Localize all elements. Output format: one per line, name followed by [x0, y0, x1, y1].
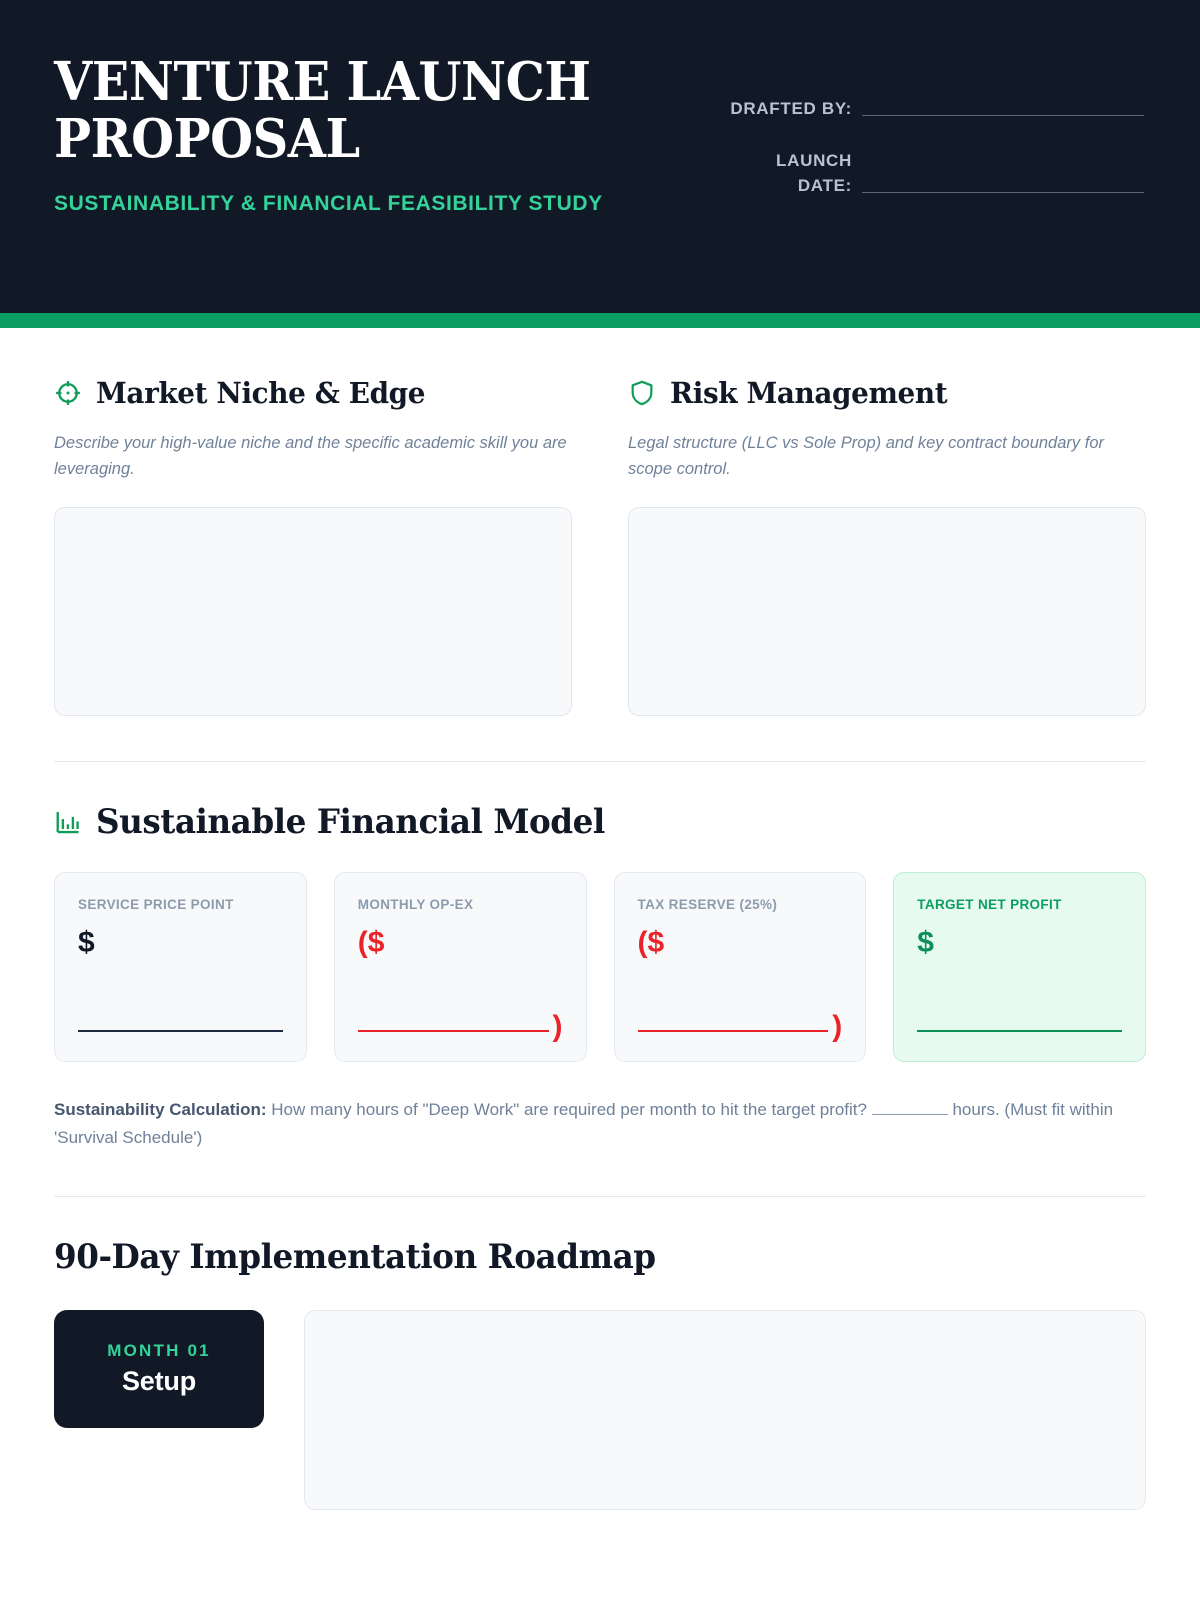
- metric-label: SERVICE PRICE POINT: [78, 896, 283, 914]
- metric-card-target-net-profit: TARGET NET PROFIT $: [893, 872, 1146, 1062]
- document-body: Market Niche & Edge Describe your high-v…: [0, 328, 1200, 1510]
- metric-card-monthly-opex: MONTHLY OP-EX ($ ): [334, 872, 587, 1062]
- metric-currency-symbol: $: [368, 926, 385, 959]
- metric-fill-row: ): [358, 1014, 563, 1040]
- accent-divider-bar: [0, 313, 1200, 328]
- drafted-by-input[interactable]: [862, 115, 1144, 116]
- metric-value-input[interactable]: [638, 1030, 829, 1032]
- metric-label: TARGET NET PROFIT: [917, 896, 1122, 914]
- financial-model-heading: Sustainable Financial Model: [54, 802, 1146, 842]
- drafted-by-row: DRAFTED BY:: [724, 96, 1144, 122]
- roadmap-notes-input[interactable]: [304, 1310, 1146, 1510]
- metric-close-paren: ): [832, 1014, 842, 1040]
- launch-date-row: LAUNCH DATE:: [724, 148, 1144, 199]
- header-meta-group: DRAFTED BY: LAUNCH DATE:: [724, 54, 1144, 313]
- launch-date-label: LAUNCH DATE:: [724, 148, 852, 199]
- shield-icon: [628, 379, 656, 407]
- metric-currency-symbol: $: [648, 926, 665, 959]
- metric-currency-symbol: $: [917, 926, 934, 959]
- metric-value-input[interactable]: [917, 1030, 1122, 1032]
- metric-fill-row: ): [638, 1014, 843, 1040]
- risk-management-section: Risk Management Legal structure (LLC vs …: [628, 376, 1146, 716]
- roadmap-month-kicker: MONTH 01: [107, 1341, 211, 1361]
- metric-open-paren: (: [638, 926, 648, 959]
- bar-chart-icon: [54, 808, 82, 836]
- roadmap-month-chip: MONTH 01 Setup: [54, 1310, 264, 1428]
- metric-amount: ($: [358, 928, 563, 958]
- metric-currency-symbol: $: [78, 926, 95, 959]
- header-title-group: VENTURE LAUNCH PROPOSAL SUSTAINABILITY &…: [54, 54, 674, 313]
- roadmap-title: 90-Day Implementation Roadmap: [54, 1237, 1102, 1277]
- proposal-page: VENTURE LAUNCH PROPOSAL SUSTAINABILITY &…: [0, 0, 1200, 1600]
- document-header: VENTURE LAUNCH PROPOSAL SUSTAINABILITY &…: [0, 0, 1200, 313]
- metric-amount: ($: [638, 928, 843, 958]
- page-title: VENTURE LAUNCH PROPOSAL: [54, 54, 631, 167]
- page-subtitle: SUSTAINABILITY & FINANCIAL FEASIBILITY S…: [54, 188, 654, 220]
- metric-fill-row: [917, 1030, 1122, 1039]
- roadmap-month-name: Setup: [122, 1366, 196, 1397]
- roadmap-row: MONTH 01 Setup: [54, 1310, 1146, 1510]
- calc-hours-input[interactable]: [872, 1100, 948, 1115]
- metric-fill-row: [78, 1030, 283, 1039]
- metric-card-tax-reserve: TAX RESERVE (25%) ($ ): [614, 872, 867, 1062]
- top-sections-row: Market Niche & Edge Describe your high-v…: [54, 328, 1146, 716]
- metric-card-grid: SERVICE PRICE POINT $ MONTHLY OP-EX ($: [54, 872, 1146, 1062]
- launch-date-input[interactable]: [862, 192, 1144, 193]
- metric-amount: $: [78, 928, 283, 958]
- market-niche-description: Describe your high-value niche and the s…: [54, 431, 572, 482]
- roadmap-section: 90-Day Implementation Roadmap MONTH 01 S…: [54, 1197, 1146, 1510]
- crosshair-icon: [54, 379, 82, 407]
- metric-card-service-price: SERVICE PRICE POINT $: [54, 872, 307, 1062]
- metric-label: TAX RESERVE (25%): [638, 896, 843, 914]
- metric-label: MONTHLY OP-EX: [358, 896, 563, 914]
- metric-amount: $: [917, 928, 1122, 958]
- financial-model-section: Sustainable Financial Model SERVICE PRIC…: [54, 762, 1146, 1151]
- market-niche-section: Market Niche & Edge Describe your high-v…: [54, 376, 572, 716]
- market-niche-title: Market Niche & Edge: [96, 376, 425, 410]
- market-niche-heading: Market Niche & Edge: [54, 376, 572, 410]
- market-niche-input[interactable]: [54, 507, 572, 716]
- calc-note-label: Sustainability Calculation:: [54, 1100, 267, 1119]
- risk-management-description: Legal structure (LLC vs Sole Prop) and k…: [628, 431, 1146, 482]
- metric-value-input[interactable]: [78, 1030, 283, 1032]
- risk-management-title: Risk Management: [670, 376, 947, 410]
- sustainability-calculation-note: Sustainability Calculation: How many hou…: [54, 1096, 1146, 1151]
- calc-note-text-1: How many hours of "Deep Work" are requir…: [267, 1100, 867, 1119]
- risk-management-heading: Risk Management: [628, 376, 1146, 410]
- drafted-by-label: DRAFTED BY:: [724, 96, 852, 122]
- risk-management-input[interactable]: [628, 507, 1146, 716]
- metric-value-input[interactable]: [358, 1030, 549, 1032]
- metric-open-paren: (: [358, 926, 368, 959]
- financial-model-title: Sustainable Financial Model: [96, 802, 605, 842]
- metric-close-paren: ): [553, 1014, 563, 1040]
